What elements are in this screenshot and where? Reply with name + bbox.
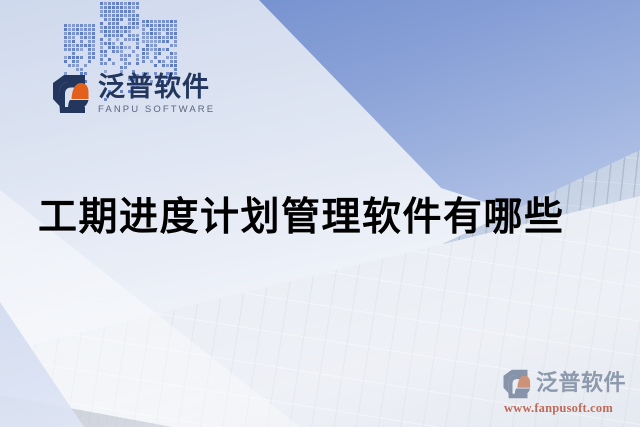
promotional-banner: 泛普软件 FANPU SOFTWARE 工期进度计划管理软件有哪些 泛普软件 w… xyxy=(0,0,640,427)
logo-chinese-name: 泛普软件 xyxy=(98,74,215,101)
watermark-url: www.fanpusoft.com xyxy=(502,401,634,416)
fanpu-logo-mark-icon xyxy=(51,73,91,115)
logo-wordmark: 泛普软件 FANPU SOFTWARE xyxy=(98,74,215,115)
watermark: 泛普软件 www.fanpusoft.com xyxy=(502,368,634,416)
watermark-chinese-name: 泛普软件 xyxy=(536,373,626,395)
watermark-row: 泛普软件 xyxy=(502,368,634,400)
fanpu-watermark-mark-icon xyxy=(502,368,532,400)
pixel-skyline-icon xyxy=(64,2,184,78)
brand-logo: 泛普软件 FANPU SOFTWARE xyxy=(51,73,215,115)
page-title: 工期进度计划管理软件有哪些 xyxy=(38,186,565,242)
logo-english-name: FANPU SOFTWARE xyxy=(98,105,215,115)
